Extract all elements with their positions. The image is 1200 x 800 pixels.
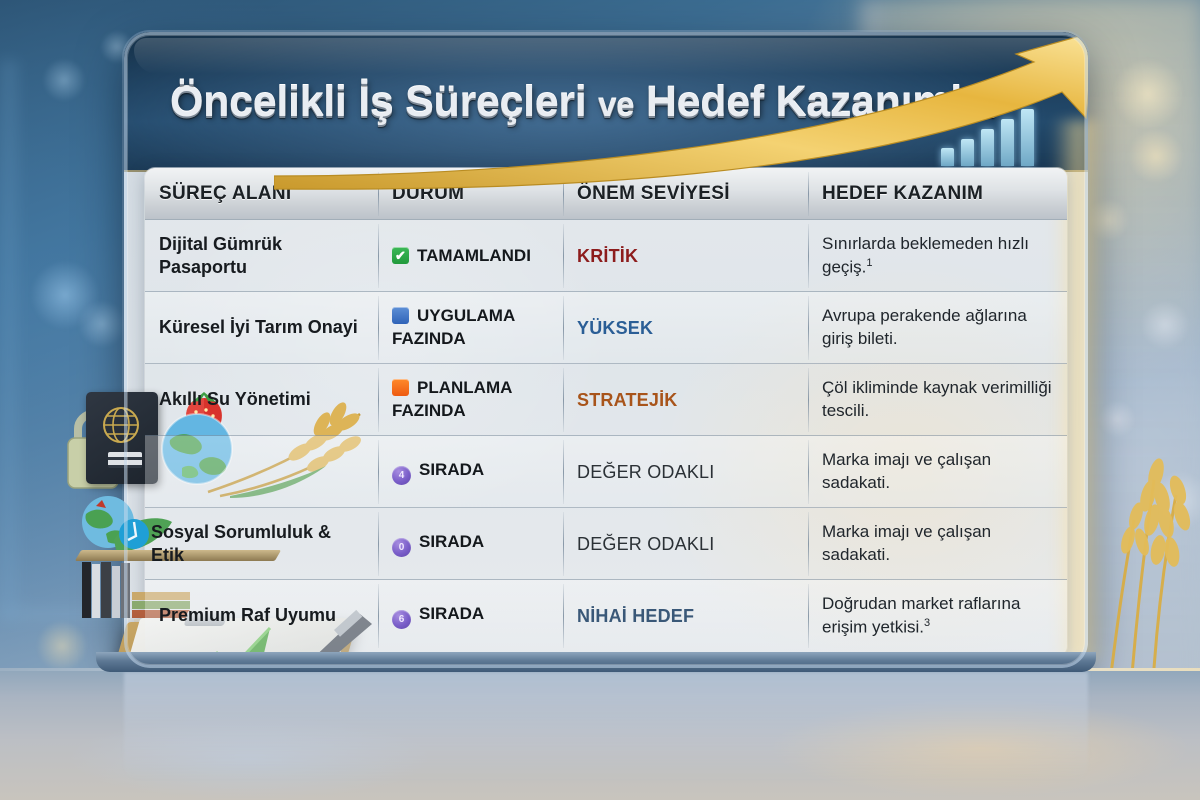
- cell-status: 6SIRADA: [378, 580, 563, 652]
- table-row[interactable]: Küresel İyi Tarım Onayi UYGULAMA FAZINDA…: [145, 292, 1067, 364]
- status-label: PLANLAMA FAZINDA: [392, 378, 512, 420]
- cell-process-area: Dijital Gümrük Pasaportu: [145, 220, 378, 292]
- status-label: SIRADA: [419, 460, 484, 479]
- circle-purple-icon: 0: [392, 538, 411, 557]
- priority-badge: YÜKSEK: [577, 318, 794, 339]
- column-header-label: ÖNEM SEVİYESİ: [577, 183, 730, 205]
- cell-process-area: Sosyal Sorumluluk & Etik: [145, 508, 378, 580]
- main-panel: Öncelikli İş Süreçleri ve Hedef Kazanıml…: [124, 32, 1088, 668]
- gain-text: Marka imajı ve çalışan sadakati.: [822, 449, 1053, 495]
- cell-priority: STRATEJİK: [563, 364, 808, 436]
- circle-purple-icon: 6: [392, 610, 411, 629]
- status-text: 4SIRADA: [392, 459, 549, 485]
- check-square-green-icon: [392, 247, 409, 264]
- process-table: SÜREÇ ALANI DURUM ÖNEM SEVİYESİ HEDEF KA…: [145, 168, 1067, 656]
- priority-badge: KRİTİK: [577, 246, 794, 267]
- cell-target-gain: Çöl ikliminde kaynak verimilliği tescili…: [808, 364, 1067, 436]
- square-blue-icon: [392, 307, 409, 324]
- status-label: SIRADA: [419, 532, 484, 551]
- column-header-priority: ÖNEM SEVİYESİ: [563, 168, 808, 220]
- status-text: PLANLAMA FAZINDA: [392, 377, 549, 423]
- priority-badge: DEĞER ODAKLI: [577, 534, 794, 555]
- table-row[interactable]: Akıllı Su Yönetimi PLANLAMA FAZINDA STRA…: [145, 364, 1067, 436]
- title-connector: ve: [598, 86, 634, 123]
- cell-process-area: Akıllı Su Yönetimi: [145, 364, 378, 436]
- column-header-status: DURUM: [378, 168, 563, 220]
- process-name: Küresel İyi Tarım Onayi: [159, 316, 364, 339]
- gain-text: Doğrudan market raflarına erişim yetkisi…: [822, 593, 1053, 640]
- status-text: 0SIRADA: [392, 531, 549, 557]
- status-label: TAMAMLANDI: [417, 246, 531, 265]
- cell-process-area: [145, 436, 378, 508]
- floor-seam: [0, 668, 1200, 671]
- gain-text: Avrupa perakende ağlarına giriş bileti.: [822, 305, 1053, 351]
- title-main: Öncelikli İş Süreçleri: [170, 78, 586, 126]
- process-name: Premium Raf Uyumu: [159, 604, 364, 627]
- cell-priority: DEĞER ODAKLI: [563, 508, 808, 580]
- cell-target-gain: Marka imajı ve çalışan sadakati.: [808, 508, 1067, 580]
- process-name: Akıllı Su Yönetimi: [159, 388, 364, 411]
- page-title: Öncelikli İş Süreçleri ve Hedef Kazanıml…: [170, 78, 1050, 127]
- gain-label: Sınırlarda beklemeden hızlı geçiş.: [822, 234, 1029, 277]
- cell-target-gain: Marka imajı ve çalışan sadakati.: [808, 436, 1067, 508]
- cell-target-gain: Doğrudan market raflarına erişim yetkisi…: [808, 580, 1067, 652]
- cell-priority: YÜKSEK: [563, 292, 808, 364]
- cell-status: UYGULAMA FAZINDA: [378, 292, 563, 364]
- cell-process-area: Premium Raf Uyumu: [145, 580, 378, 652]
- gain-text: Çöl ikliminde kaynak verimilliği tescili…: [822, 377, 1053, 423]
- table-row[interactable]: 4SIRADA DEĞER ODAKLI Marka imajı ve çalı…: [145, 436, 1067, 508]
- column-header-label: HEDEF KAZANIM: [822, 183, 983, 205]
- footnote-marker: 1: [866, 257, 872, 269]
- priority-badge: NİHAİ HEDEF: [577, 606, 794, 627]
- bar-chart-icon: [941, 106, 1034, 166]
- column-header-label: SÜREÇ ALANI: [159, 183, 291, 205]
- column-header-process-area: SÜREÇ ALANI: [145, 168, 378, 220]
- cell-status: TAMAMLANDI: [378, 220, 563, 292]
- priority-badge: DEĞER ODAKLI: [577, 462, 794, 483]
- table-row[interactable]: Sosyal Sorumluluk & Etik 0SIRADA DEĞER O…: [145, 508, 1067, 580]
- table-row[interactable]: Dijital Gümrük Pasaportu TAMAMLANDI KRİT…: [145, 220, 1067, 292]
- cell-priority: NİHAİ HEDEF: [563, 580, 808, 652]
- process-name: Sosyal Sorumluluk & Etik: [151, 521, 364, 568]
- cell-status: 0SIRADA: [378, 508, 563, 580]
- status-text: 6SIRADA: [392, 603, 549, 629]
- cell-status: 4SIRADA: [378, 436, 563, 508]
- cell-target-gain: Avrupa perakende ağlarına giriş bileti.: [808, 292, 1067, 364]
- table-header-row: SÜREÇ ALANI DURUM ÖNEM SEVİYESİ HEDEF KA…: [145, 168, 1067, 220]
- status-label: UYGULAMA FAZINDA: [392, 306, 515, 348]
- gain-text: Sınırlarda beklemeden hızlı geçiş.1: [822, 233, 1053, 280]
- cell-status: PLANLAMA FAZINDA: [378, 364, 563, 436]
- cell-priority: KRİTİK: [563, 220, 808, 292]
- square-orange-icon: [392, 379, 409, 396]
- circle-purple-icon: 4: [392, 466, 411, 485]
- floor-reflection: [0, 668, 1200, 800]
- cell-process-area: Küresel İyi Tarım Onayi: [145, 292, 378, 364]
- cell-priority: DEĞER ODAKLI: [563, 436, 808, 508]
- status-text: TAMAMLANDI: [392, 245, 549, 268]
- status-label: SIRADA: [419, 604, 484, 623]
- table-row[interactable]: Premium Raf Uyumu 6SIRADA NİHAİ HEDEF Do…: [145, 580, 1067, 652]
- priority-badge: STRATEJİK: [577, 390, 794, 411]
- column-header-target-gain: HEDEF KAZANIM: [808, 168, 1067, 220]
- column-header-label: DURUM: [392, 183, 464, 205]
- status-text: UYGULAMA FAZINDA: [392, 305, 549, 351]
- cell-target-gain: Sınırlarda beklemeden hızlı geçiş.1: [808, 220, 1067, 292]
- process-name: Dijital Gümrük Pasaportu: [159, 233, 364, 280]
- gain-text: Marka imajı ve çalışan sadakati.: [822, 521, 1053, 567]
- gain-label: Doğrudan market raflarına erişim yetkisi…: [822, 594, 1020, 637]
- footnote-marker: 3: [924, 617, 930, 629]
